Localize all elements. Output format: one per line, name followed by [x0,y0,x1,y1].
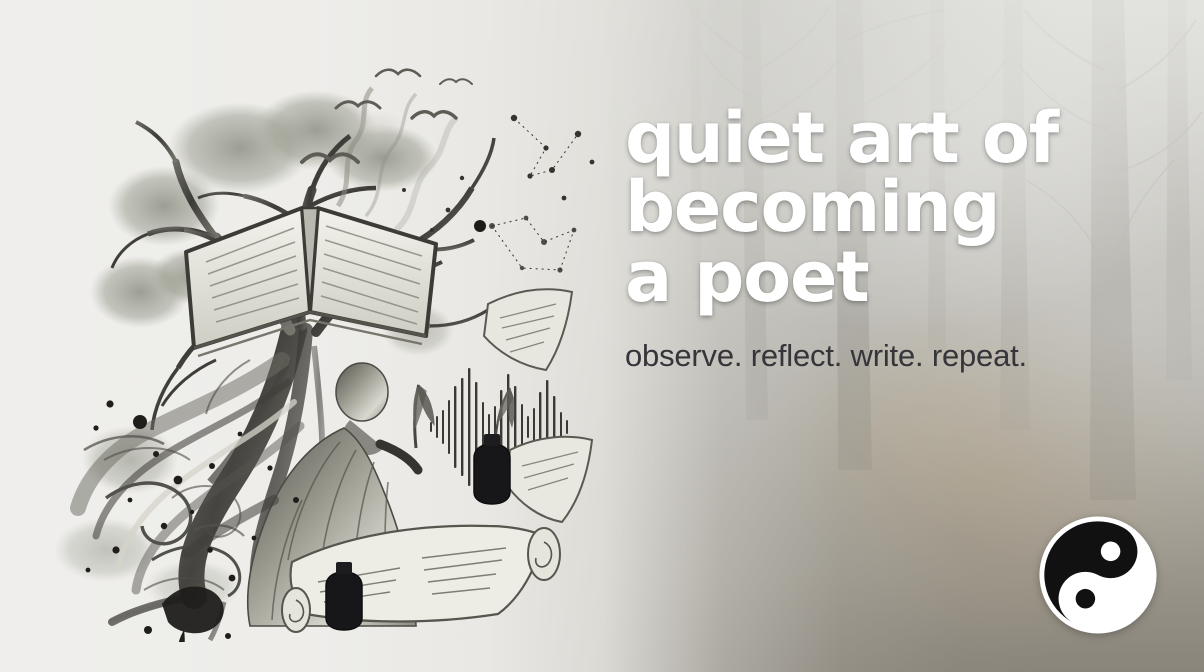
headline: quiet art of becoming a poet [625,104,1185,312]
poet-tree-illustration [44,30,604,642]
text-block: quiet art of becoming a poet observe. re… [625,104,1185,374]
headline-line-3: a poet [625,243,1185,312]
floating-manuscript [484,289,572,370]
headline-line-2: becoming [625,173,1185,242]
headline-line-1: quiet art of [625,104,1185,173]
yin-yang-logo[interactable] [1037,514,1159,636]
poster-banner: quiet art of becoming a poet observe. re… [0,0,1204,672]
paper-scroll-right [506,437,592,522]
subtitle: observe. reflect. write. repeat. [625,338,1185,374]
quill-pen [399,383,441,448]
